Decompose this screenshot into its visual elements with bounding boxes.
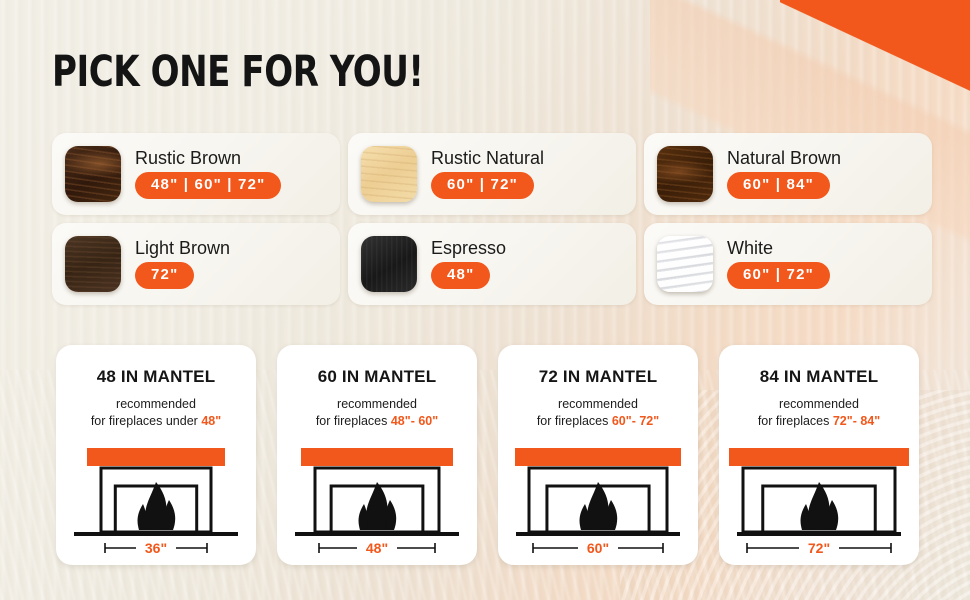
mantel-card-title: 48 IN MANTEL bbox=[97, 367, 216, 387]
mantel-shelf bbox=[87, 448, 225, 466]
mantel-size-card[interactable]: 84 IN MANTELrecommendedfor fireplaces 72… bbox=[719, 345, 919, 565]
fireplace-diagram: 48" bbox=[287, 440, 467, 558]
finish-name: Rustic Brown bbox=[135, 149, 281, 168]
mantel-recommendation: recommendedfor fireplaces 60"- 72" bbox=[537, 396, 659, 430]
mantel-shelf bbox=[515, 448, 681, 466]
finish-card-body: White60" | 72" bbox=[727, 239, 830, 288]
rustic-natural-wood-swatch[interactable] bbox=[361, 146, 417, 202]
recommendation-range: 72"- 84" bbox=[833, 414, 880, 428]
finish-size-pill[interactable]: 48" | 60" | 72" bbox=[135, 172, 281, 198]
mantel-size-card[interactable]: 72 IN MANTELrecommendedfor fireplaces 60… bbox=[498, 345, 698, 565]
recommendation-prefix: for fireplaces bbox=[537, 414, 612, 428]
fireplace-diagram: 72" bbox=[729, 440, 909, 558]
finish-size-pill[interactable]: 48" bbox=[431, 262, 490, 288]
mantel-card-title: 72 IN MANTEL bbox=[539, 367, 658, 387]
fireplace-diagram: 36" bbox=[66, 440, 246, 558]
finish-card-body: Espresso48" bbox=[431, 239, 506, 288]
finish-card[interactable]: Rustic Natural60" | 72" bbox=[348, 133, 636, 215]
finish-card-body: Rustic Brown48" | 60" | 72" bbox=[135, 149, 281, 198]
finish-size-pill[interactable]: 60" | 72" bbox=[431, 172, 534, 198]
finish-name: Rustic Natural bbox=[431, 149, 544, 168]
espresso-wood-swatch[interactable] bbox=[361, 236, 417, 292]
dimension-label: 48" bbox=[366, 540, 388, 556]
recommended-label: recommended bbox=[558, 397, 638, 411]
dimension-label: 72" bbox=[808, 540, 830, 556]
finish-size-pill[interactable]: 72" bbox=[135, 262, 194, 288]
finish-size-pill[interactable]: 60" | 84" bbox=[727, 172, 830, 198]
white-finish-swatch[interactable] bbox=[657, 236, 713, 292]
recommendation-range: 48" bbox=[201, 414, 221, 428]
mantel-card-title: 84 IN MANTEL bbox=[760, 367, 879, 387]
fireplace-diagram: 60" bbox=[508, 440, 688, 558]
page-title: PICK ONE FOR YOU! bbox=[52, 47, 424, 97]
finish-options-grid: Rustic Brown48" | 60" | 72"Rustic Natura… bbox=[52, 133, 932, 305]
mantel-card-title: 60 IN MANTEL bbox=[318, 367, 437, 387]
floor-line bbox=[737, 532, 901, 536]
natural-brown-wood-swatch[interactable] bbox=[657, 146, 713, 202]
finish-card[interactable]: Natural Brown60" | 84" bbox=[644, 133, 932, 215]
finish-card-body: Rustic Natural60" | 72" bbox=[431, 149, 544, 198]
finish-card-body: Natural Brown60" | 84" bbox=[727, 149, 841, 198]
finish-card[interactable]: White60" | 72" bbox=[644, 223, 932, 305]
finish-card[interactable]: Rustic Brown48" | 60" | 72" bbox=[52, 133, 340, 215]
recommendation-prefix: for fireplaces under bbox=[91, 414, 201, 428]
floor-line bbox=[295, 532, 459, 536]
rustic-brown-wood-swatch[interactable] bbox=[65, 146, 121, 202]
orange-corner-accent bbox=[780, 0, 970, 108]
dimension-label: 60" bbox=[587, 540, 609, 556]
dimension-label: 36" bbox=[145, 540, 167, 556]
finish-name: White bbox=[727, 239, 830, 258]
mantel-shelf bbox=[729, 448, 909, 466]
recommended-label: recommended bbox=[116, 397, 196, 411]
recommended-label: recommended bbox=[337, 397, 417, 411]
mantel-recommendation: recommendedfor fireplaces 72"- 84" bbox=[758, 396, 880, 430]
mantel-size-card[interactable]: 48 IN MANTELrecommendedfor fireplaces un… bbox=[56, 345, 256, 565]
finish-name: Light Brown bbox=[135, 239, 230, 258]
light-brown-wood-swatch[interactable] bbox=[65, 236, 121, 292]
recommendation-prefix: for fireplaces bbox=[316, 414, 391, 428]
finish-card[interactable]: Espresso48" bbox=[348, 223, 636, 305]
mantel-size-card[interactable]: 60 IN MANTELrecommendedfor fireplaces 48… bbox=[277, 345, 477, 565]
floor-line bbox=[74, 532, 238, 536]
recommendation-range: 60"- 72" bbox=[612, 414, 659, 428]
recommendation-range: 48"- 60" bbox=[391, 414, 438, 428]
recommended-label: recommended bbox=[779, 397, 859, 411]
mantel-shelf bbox=[301, 448, 453, 466]
mantel-recommendation: recommendedfor fireplaces under 48" bbox=[91, 396, 221, 430]
mantel-size-guide-grid: 48 IN MANTELrecommendedfor fireplaces un… bbox=[56, 345, 920, 565]
mantel-recommendation: recommendedfor fireplaces 48"- 60" bbox=[316, 396, 438, 430]
finish-card-body: Light Brown72" bbox=[135, 239, 230, 288]
finish-card[interactable]: Light Brown72" bbox=[52, 223, 340, 305]
finish-name: Natural Brown bbox=[727, 149, 841, 168]
recommendation-prefix: for fireplaces bbox=[758, 414, 833, 428]
finish-size-pill[interactable]: 60" | 72" bbox=[727, 262, 830, 288]
floor-line bbox=[516, 532, 680, 536]
finish-name: Espresso bbox=[431, 239, 506, 258]
